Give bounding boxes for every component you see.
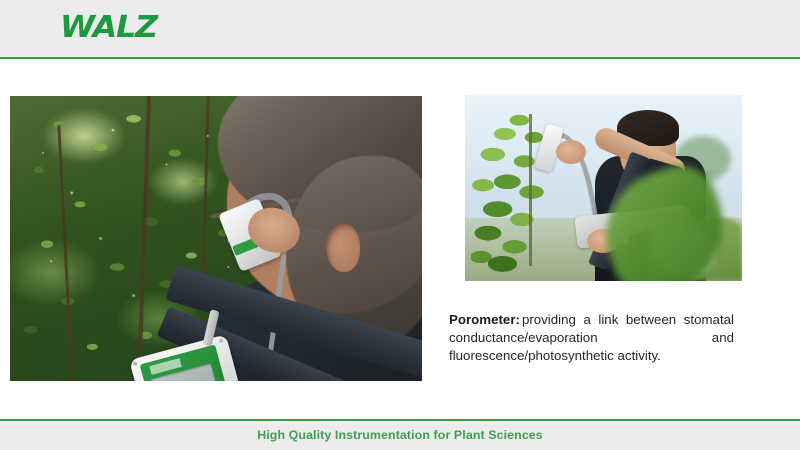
plant-stem bbox=[529, 114, 532, 267]
photo-scientist-measuring-plant bbox=[465, 95, 742, 281]
researcher-ear bbox=[326, 224, 360, 272]
porometer-caption: Porometer:providing a link between stoma… bbox=[449, 311, 734, 366]
header-divider-rule bbox=[0, 57, 800, 59]
scientist-upper-hand bbox=[556, 140, 586, 164]
caption-lead: Porometer: bbox=[449, 312, 520, 327]
footer-tagline: High Quality Instrumentation for Plant S… bbox=[0, 428, 800, 442]
presentation-slide: WALZ bbox=[0, 0, 800, 450]
photo-researcher-with-porometer bbox=[10, 96, 422, 381]
walz-logo[interactable]: WALZ bbox=[60, 13, 157, 43]
